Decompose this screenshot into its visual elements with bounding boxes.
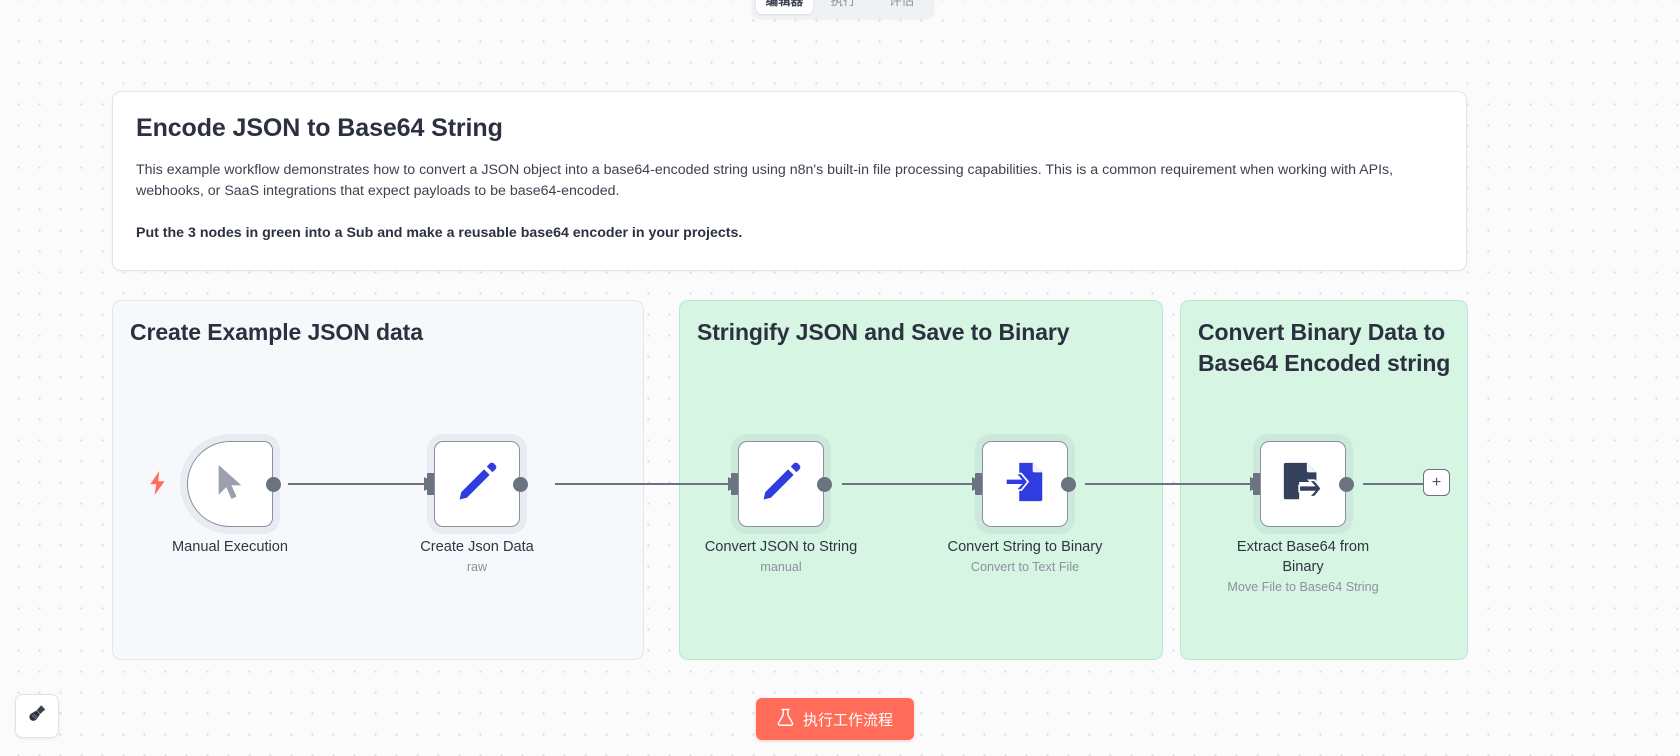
pencil-icon [454, 459, 500, 510]
node-box[interactable] [434, 441, 520, 527]
tab-evaluations[interactable]: 评估 [873, 0, 930, 14]
node-box[interactable] [187, 441, 273, 527]
add-node-button[interactable]: + [1423, 469, 1450, 496]
node-label: Convert JSON to String [681, 537, 881, 557]
execute-workflow-label: 执行工作流程 [803, 709, 893, 730]
node-box[interactable] [982, 441, 1068, 527]
node-box[interactable] [1260, 441, 1346, 527]
node-output-connector[interactable] [513, 477, 528, 492]
node-label: Create Json Data [377, 537, 577, 557]
sticky-note[interactable]: Encode JSON to Base64 String This exampl… [112, 91, 1467, 271]
file-export-icon [1280, 459, 1326, 510]
node-subtitle: Convert to Text File [925, 560, 1125, 574]
sticky-note-bold-note: Put the 3 nodes in green into a Sub and … [136, 223, 1443, 244]
node-output-connector[interactable] [817, 477, 832, 492]
node-subtitle: manual [681, 560, 881, 574]
node-subtitle: Move File to Base64 String [1203, 580, 1403, 594]
node-box[interactable] [738, 441, 824, 527]
file-import-icon [1002, 459, 1048, 510]
execute-workflow-button[interactable]: 执行工作流程 [756, 698, 914, 740]
sticky-note-paragraph: This example workflow demonstrates how t… [136, 160, 1443, 202]
node-convert-json-to-string[interactable]: Convert JSON to String manual [738, 441, 824, 527]
node-label: Extract Base64 from Binary [1228, 537, 1378, 577]
tidy-up-button[interactable] [15, 694, 59, 738]
pencil-icon [758, 459, 804, 510]
node-input-connector[interactable] [975, 473, 982, 495]
node-convert-string-to-binary[interactable]: Convert String to Binary Convert to Text… [982, 441, 1068, 527]
group-title: Convert Binary Data to Base64 Encoded st… [1198, 317, 1458, 379]
lightning-bolt-icon [149, 471, 166, 499]
node-label: Manual Execution [130, 537, 330, 557]
sticky-note-title: Encode JSON to Base64 String [136, 114, 1443, 143]
flask-icon [777, 708, 794, 731]
node-output-connector[interactable] [1339, 477, 1354, 492]
tab-editor[interactable]: 编辑器 [756, 0, 813, 14]
node-subtitle: raw [377, 560, 577, 574]
node-input-connector[interactable] [1253, 473, 1260, 495]
node-manual-execution[interactable]: Manual Execution [187, 441, 273, 527]
node-output-connector[interactable] [266, 477, 281, 492]
node-output-connector[interactable] [1061, 477, 1076, 492]
node-create-json-data[interactable]: Create Json Data raw [434, 441, 520, 527]
group-title: Stringify JSON and Save to Binary [697, 317, 1069, 348]
node-input-connector[interactable] [427, 473, 434, 495]
broom-icon [26, 703, 48, 730]
cursor-icon [213, 462, 247, 507]
node-label: Convert String to Binary [925, 537, 1125, 557]
group-title: Create Example JSON data [130, 317, 423, 348]
tab-executions[interactable]: 执行 [815, 0, 872, 14]
node-input-connector[interactable] [731, 473, 738, 495]
node-extract-base64-from-binary[interactable]: Extract Base64 from Binary Move File to … [1260, 441, 1346, 527]
workflow-tab-bar: 编辑器 执行 评估 [752, 0, 934, 18]
